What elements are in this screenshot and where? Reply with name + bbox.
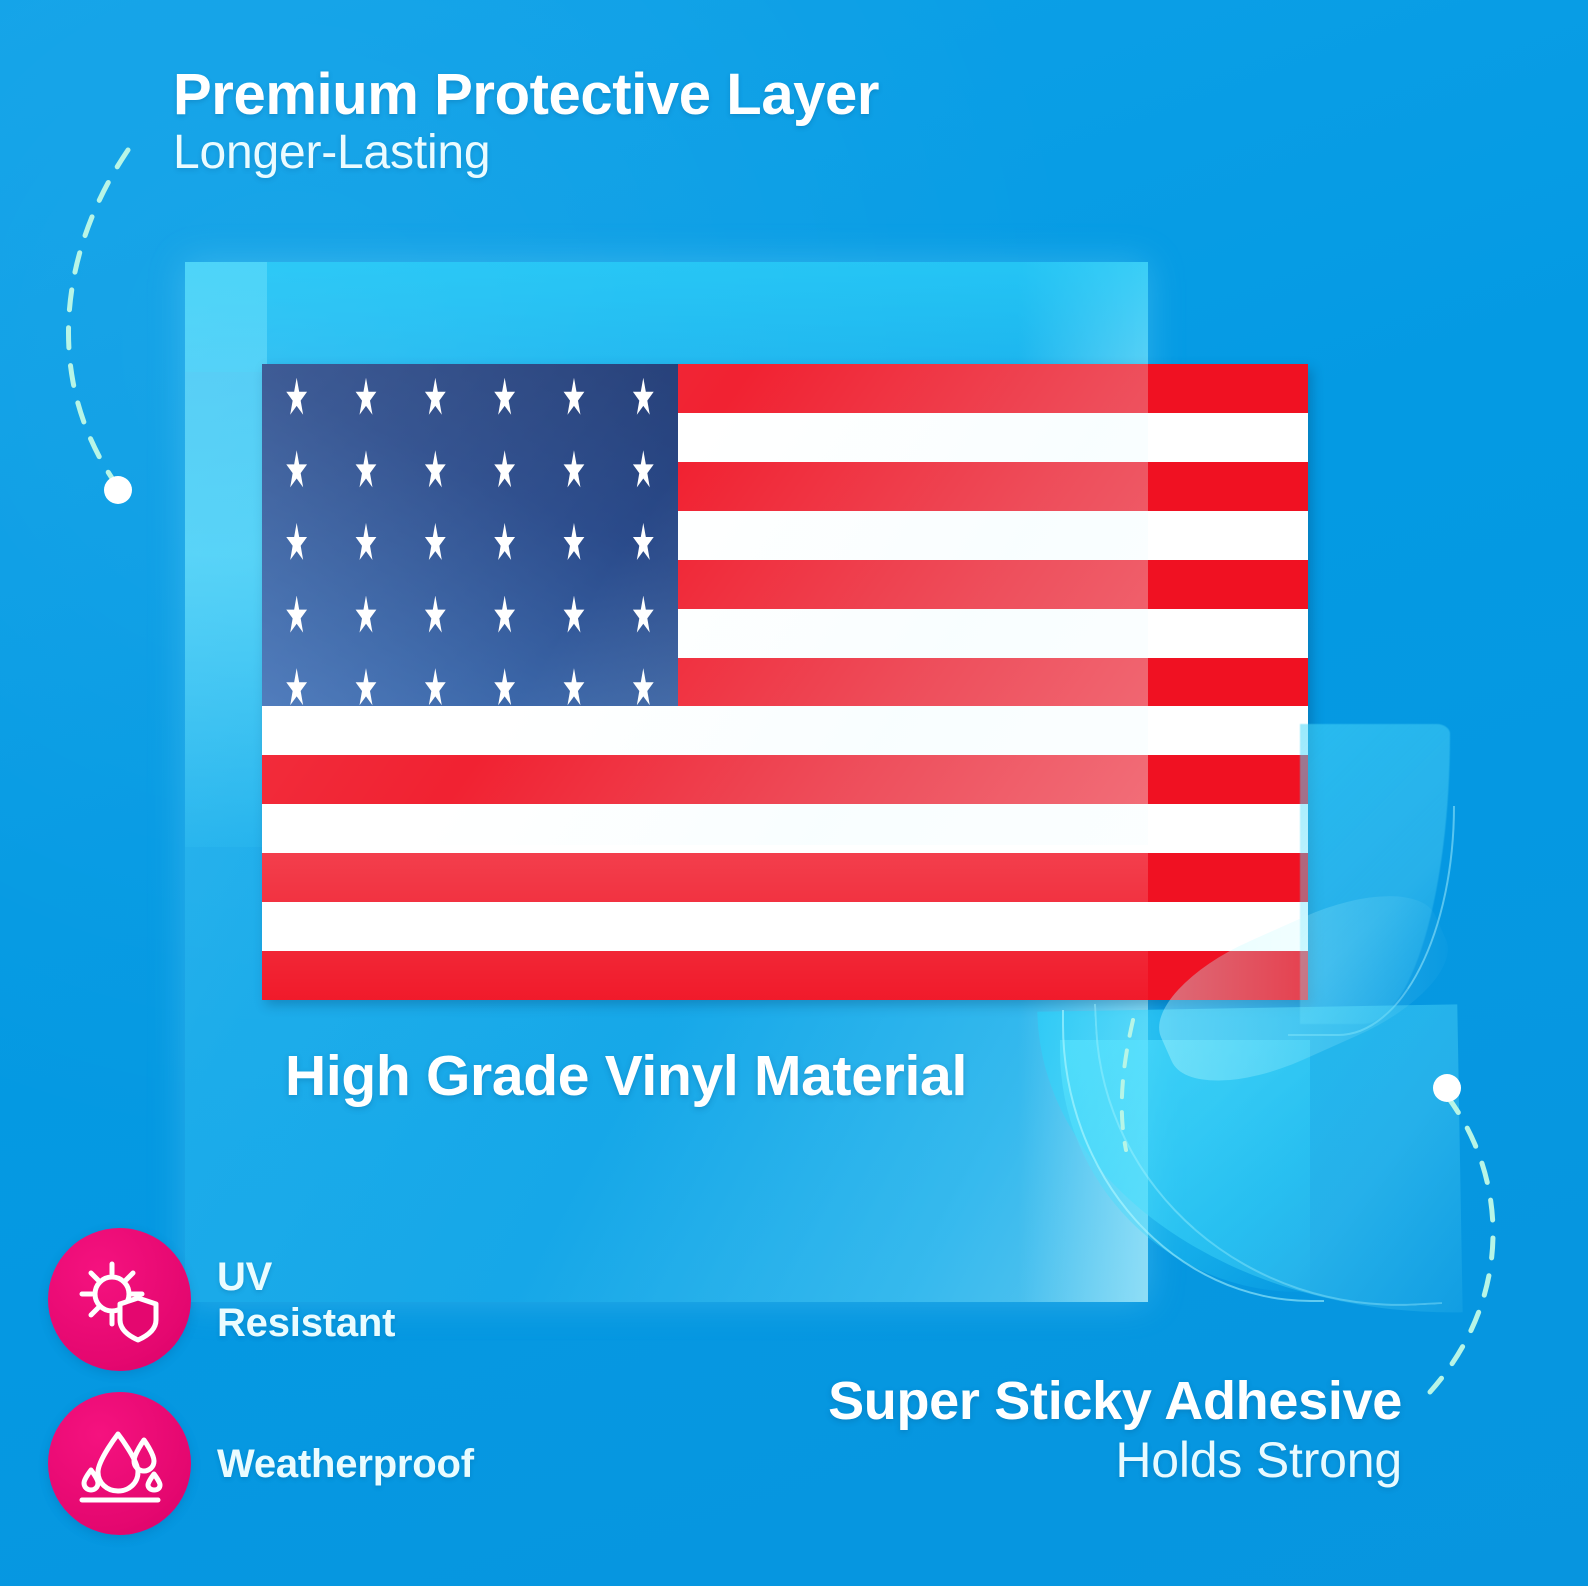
adhesive-block: Super Sticky Adhesive Holds Strong <box>582 1372 1402 1490</box>
headline-block: Premium Protective Layer Longer-Lasting <box>173 64 1173 182</box>
flag-star <box>563 450 584 490</box>
film-top-highlight <box>185 262 1148 372</box>
flag-star <box>494 450 515 490</box>
flag-star-row <box>262 559 678 599</box>
flag-star <box>286 378 307 418</box>
flag-star <box>355 378 376 418</box>
flag-star <box>425 596 446 636</box>
film-left-edge-highlight <box>185 262 267 847</box>
flag-star <box>355 523 376 563</box>
flag-star <box>355 450 376 490</box>
flag-star-row <box>262 487 678 527</box>
badge-circle-uv <box>48 1228 191 1371</box>
flag-star <box>425 378 446 418</box>
adhesive-title: Super Sticky Adhesive <box>582 1372 1402 1431</box>
flag-star <box>286 450 307 490</box>
flag-star-row <box>262 414 678 454</box>
flag-star-row <box>262 632 678 672</box>
united-states-flag <box>262 364 1308 1000</box>
adhesive-subtitle: Holds Strong <box>582 1431 1402 1490</box>
flag-star <box>286 523 307 563</box>
flag-star <box>563 378 584 418</box>
flag-stripe <box>262 853 1308 902</box>
flag-star-row <box>262 596 678 636</box>
flag-star <box>286 596 307 636</box>
flag-star <box>563 596 584 636</box>
flag-star <box>494 596 515 636</box>
page-subtitle: Longer-Lasting <box>173 125 1173 182</box>
flag-star <box>355 596 376 636</box>
badge-label-weatherproof: Weatherproof <box>217 1441 474 1487</box>
flag-stripe <box>262 902 1308 951</box>
product-feature-infographic: Premium Protective Layer Longer-Lasting … <box>0 0 1588 1586</box>
flag-star <box>633 596 654 636</box>
flag-canton <box>262 364 678 706</box>
flag-star <box>633 523 654 563</box>
water-droplet-icon <box>74 1418 166 1510</box>
flag-star <box>633 450 654 490</box>
flag-star <box>286 668 307 708</box>
material-title: High Grade Vinyl Material <box>285 1043 967 1109</box>
feature-badge-uv-resistant: UV Resistant <box>48 1228 395 1371</box>
flag-star-row <box>262 523 678 563</box>
flag-star <box>633 668 654 708</box>
flag-star-row <box>262 668 678 708</box>
badge-circle-weatherproof <box>48 1392 191 1535</box>
flag-star-row <box>262 378 678 418</box>
flag-star-row <box>262 450 678 490</box>
flag-star <box>494 523 515 563</box>
flag-stripe <box>262 804 1308 853</box>
flag-star <box>563 523 584 563</box>
flag-star <box>425 450 446 490</box>
sun-shield-icon <box>74 1254 166 1346</box>
badge-label-uv: UV Resistant <box>217 1254 395 1346</box>
flag-stripe <box>262 755 1308 804</box>
flag-star <box>494 668 515 708</box>
flag-stripe <box>262 951 1308 1000</box>
page-title: Premium Protective Layer <box>173 64 1173 125</box>
flag-star <box>494 378 515 418</box>
flag-star <box>355 668 376 708</box>
feature-badge-weatherproof: Weatherproof <box>48 1392 474 1535</box>
flag-stripe <box>262 706 1308 755</box>
flag-star <box>425 523 446 563</box>
flag-star <box>425 668 446 708</box>
flag-star <box>633 378 654 418</box>
flag-star <box>563 668 584 708</box>
